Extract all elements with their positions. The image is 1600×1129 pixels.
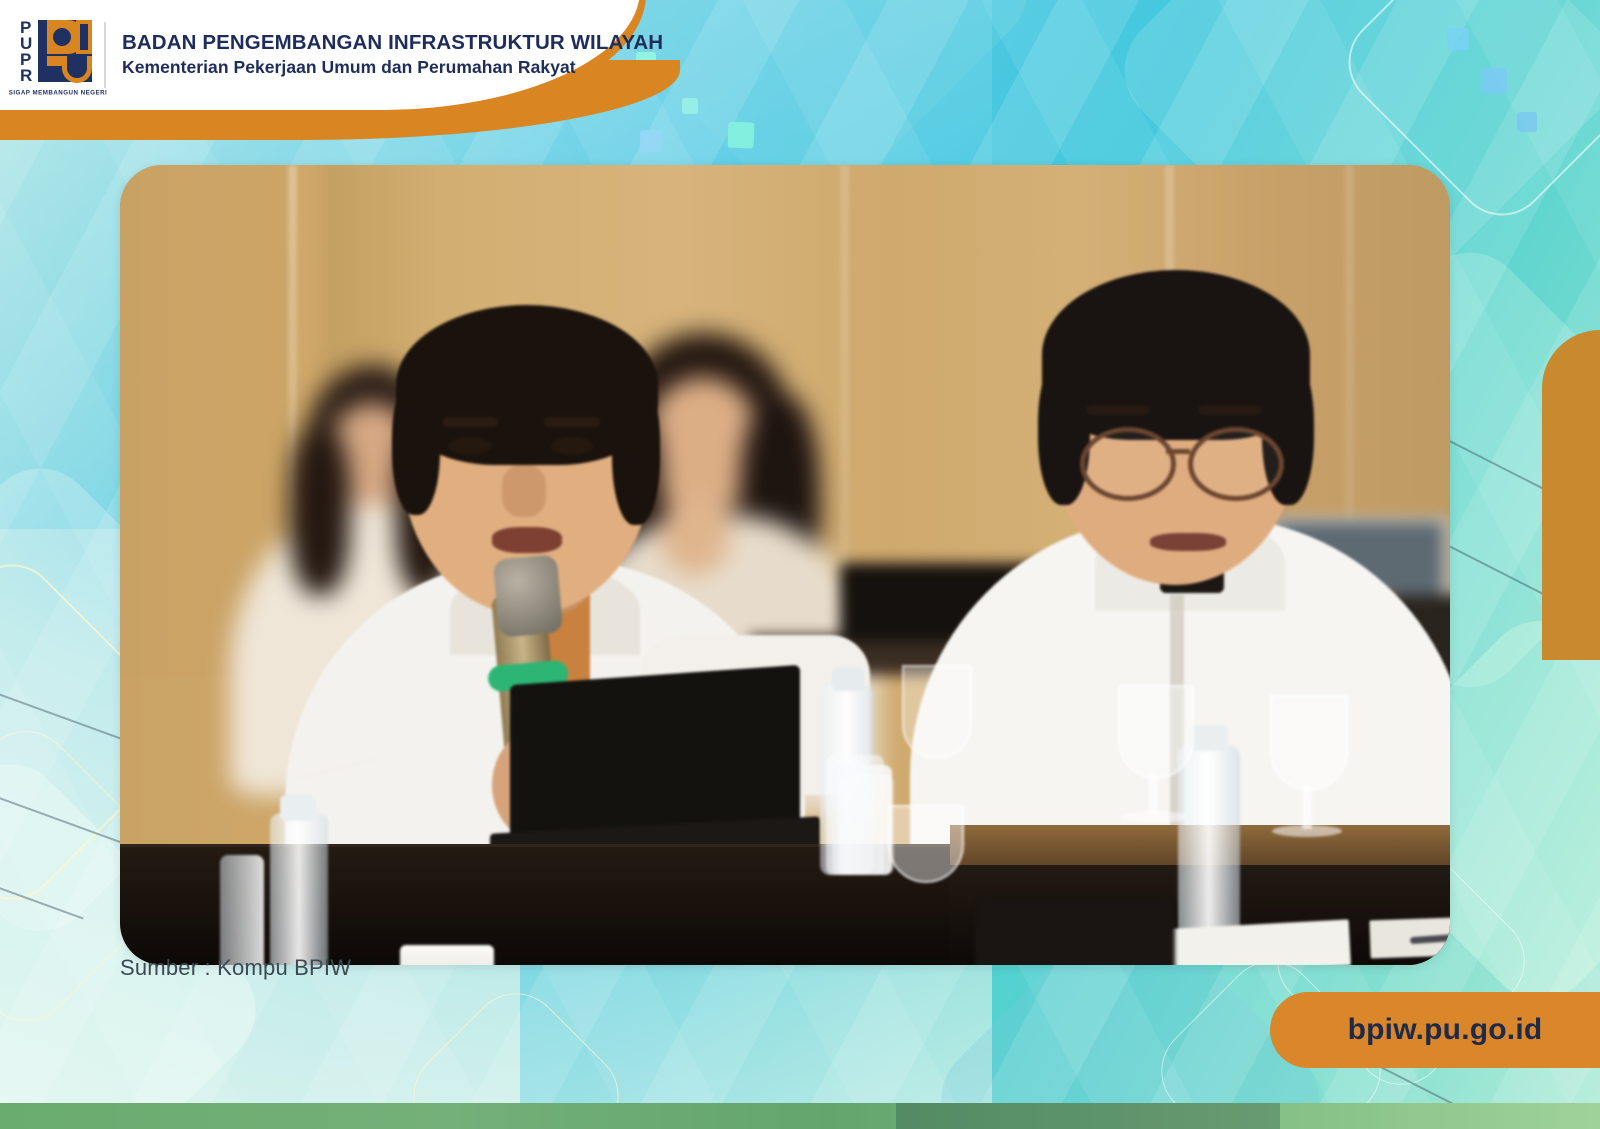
stem-glass-3-base (1272, 825, 1342, 837)
chair-right (975, 895, 1175, 965)
stem-glass-4 (1118, 685, 1194, 779)
pupr-logo-icon: P U P R SIGAP MEMBANGUN NEGERI (18, 16, 98, 94)
banner-canvas: Sumber : Kompu BPIW P U P R (0, 0, 1600, 1129)
background-square-1 (728, 122, 755, 149)
organization-title: BADAN PENGEMBANGAN INFRASTRUKTUR WILAYAH (122, 32, 663, 55)
water-bottle-2 (220, 855, 264, 965)
water-bottle-3-cap (832, 667, 864, 691)
ministry-subtitle: Kementerian Pekerjaan Umum dan Perumahan… (122, 57, 663, 78)
background-orange-accent-tab (1542, 330, 1600, 660)
stem-glass-4-stem (1148, 773, 1158, 815)
stem-glass-3 (1270, 695, 1348, 791)
water-bottle-6-cap (1190, 725, 1228, 751)
background-square-7 (1517, 112, 1537, 132)
logo-tagline: SIGAP MEMBANGUN NEGERI (4, 89, 112, 96)
bottom-green-bar-shade (896, 1103, 1280, 1129)
photo-caption: Sumber : Kompu BPIW (120, 955, 351, 981)
meeting-photo (120, 165, 1450, 965)
water-bottle-7 (826, 755, 884, 875)
background-square-6 (1481, 68, 1507, 94)
header-titles: BADAN PENGEMBANGAN INFRASTRUKTUR WILAYAH… (122, 32, 663, 78)
stem-glass-3-stem (1302, 785, 1312, 829)
table-objects (120, 165, 1450, 965)
logo-divider (104, 22, 106, 88)
background-square-5 (1447, 28, 1469, 50)
svg-text:R: R (20, 66, 32, 85)
background-square-4 (640, 130, 662, 152)
pen-background (290, 754, 380, 785)
water-bottle-1-cap (280, 795, 316, 821)
background-square-3 (682, 98, 698, 114)
website-url-text: bpiw.pu.go.id (1328, 1013, 1543, 1047)
stem-glass-2 (902, 665, 972, 759)
website-url-badge[interactable]: bpiw.pu.go.id (1270, 992, 1600, 1068)
water-bottle-1 (270, 813, 328, 965)
coffee-cup (400, 945, 494, 965)
bottom-green-bar (0, 1103, 1600, 1129)
stem-glass-1 (888, 805, 964, 883)
header-branding: P U P R SIGAP MEMBANGUN NEGERI BADAN PEN… (18, 16, 663, 94)
stem-glass-4-base (1120, 811, 1188, 823)
